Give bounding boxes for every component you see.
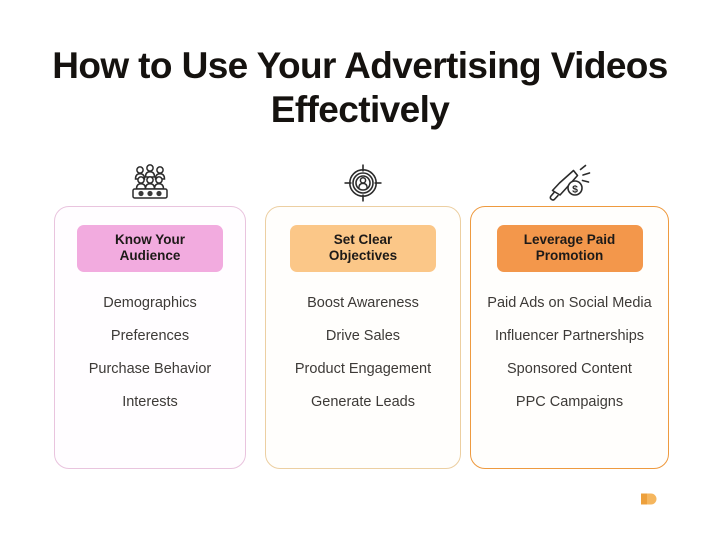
brand-logo-mark [641,492,659,506]
card-set-clear-objectives: Set Clear Objectives Boost Awareness Dri… [265,206,461,469]
card-know-your-audience: Know Your Audience Demographics Preferen… [54,206,246,469]
badge-line-1: Set Clear [303,232,423,248]
badge-line-2: Promotion [510,248,630,264]
list-item: Generate Leads [266,393,460,411]
page-title: How to Use Your Advertising Videos Effec… [0,44,720,132]
list-item: Preferences [55,327,245,345]
list-item: PPC Campaigns [471,393,668,411]
badge-line-1: Know Your [90,232,210,248]
list-know-your-audience: Demographics Preferences Purchase Behavi… [55,294,245,411]
column-know-your-audience: Know Your Audience Demographics Preferen… [54,160,246,469]
infographic-canvas: How to Use Your Advertising Videos Effec… [0,0,720,539]
target-person-icon [265,160,461,206]
list-item: Interests [55,393,245,411]
badge-know-your-audience: Know Your Audience [77,225,223,272]
audience-group-icon [54,160,246,206]
title-line-1: How to Use Your Advertising Videos [0,44,720,88]
card-leverage-paid-promotion: Leverage Paid Promotion Paid Ads on Soci… [470,206,669,469]
list-item: Paid Ads on Social Media [471,294,668,312]
list-item: Demographics [55,294,245,312]
list-leverage-paid-promotion: Paid Ads on Social Media Influencer Part… [471,294,668,411]
list-item: Sponsored Content [471,360,668,378]
list-item: Drive Sales [266,327,460,345]
title-line-2: Effectively [0,88,720,132]
column-set-clear-objectives: Set Clear Objectives Boost Awareness Dri… [265,160,461,469]
badge-line-2: Objectives [303,248,423,264]
badge-line-2: Audience [90,248,210,264]
badge-line-1: Leverage Paid [510,232,630,248]
list-item: Boost Awareness [266,294,460,312]
megaphone-money-icon: $ [470,160,669,206]
badge-set-clear-objectives: Set Clear Objectives [290,225,436,272]
badge-leverage-paid-promotion: Leverage Paid Promotion [497,225,643,272]
list-item: Purchase Behavior [55,360,245,378]
list-set-clear-objectives: Boost Awareness Drive Sales Product Enga… [266,294,460,411]
svg-text:$: $ [572,184,578,196]
list-item: Influencer Partnerships [471,327,668,345]
column-leverage-paid-promotion: $ Leverage Paid Promotion Paid Ads on So… [470,160,669,469]
columns-container: Know Your Audience Demographics Preferen… [0,160,720,480]
list-item: Product Engagement [266,360,460,378]
